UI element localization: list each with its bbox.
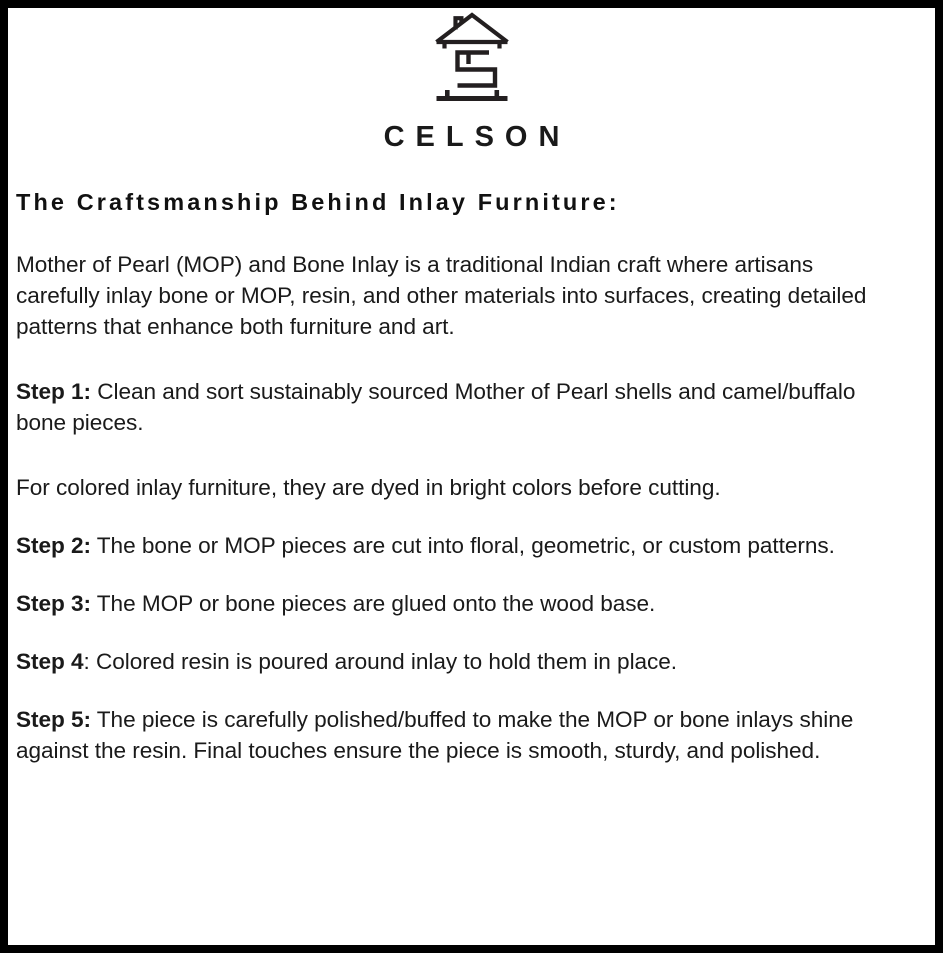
house-monogram-icon <box>433 12 511 107</box>
step-text-4: The MOP or bone pieces are glued onto th… <box>91 591 655 616</box>
page-title: The Craftsmanship Behind Inlay Furniture… <box>16 188 895 216</box>
document-body: The Craftsmanship Behind Inlay Furniture… <box>8 188 935 767</box>
step-paragraph-6: Step 5: The piece is carefully polished/… <box>16 705 895 767</box>
step-paragraph-5: Step 4: Colored resin is poured around i… <box>16 647 895 678</box>
step-label-3: Step 2: <box>16 533 91 558</box>
step-paragraph-3: Step 2: The bone or MOP pieces are cut i… <box>16 531 895 562</box>
step-paragraph-1: Step 1: Clean and sort sustainably sourc… <box>16 377 895 439</box>
step-text-1: Clean and sort sustainably sourced Mothe… <box>16 379 855 435</box>
step-paragraph-2: For colored inlay furniture, they are dy… <box>16 473 895 504</box>
step-label-1: Step 1: <box>16 379 91 404</box>
step-text-6: The piece is carefully polished/buffed t… <box>16 707 853 763</box>
poster-page: CELSON The Craftsmanship Behind Inlay Fu… <box>0 0 943 953</box>
step-text-5: : Colored resin is poured around inlay t… <box>84 649 678 674</box>
step-paragraph-4: Step 3: The MOP or bone pieces are glued… <box>16 589 895 620</box>
step-label-6: Step 5: <box>16 707 91 732</box>
intro-paragraph: Mother of Pearl (MOP) and Bone Inlay is … <box>16 250 895 343</box>
step-label-5: Step 4 <box>16 649 84 674</box>
brand-header: CELSON <box>8 8 935 152</box>
step-text-2: For colored inlay furniture, they are dy… <box>16 475 721 500</box>
brand-wordmark: CELSON <box>373 123 571 152</box>
step-label-4: Step 3: <box>16 591 91 616</box>
step-text-3: The bone or MOP pieces are cut into flor… <box>91 533 835 558</box>
